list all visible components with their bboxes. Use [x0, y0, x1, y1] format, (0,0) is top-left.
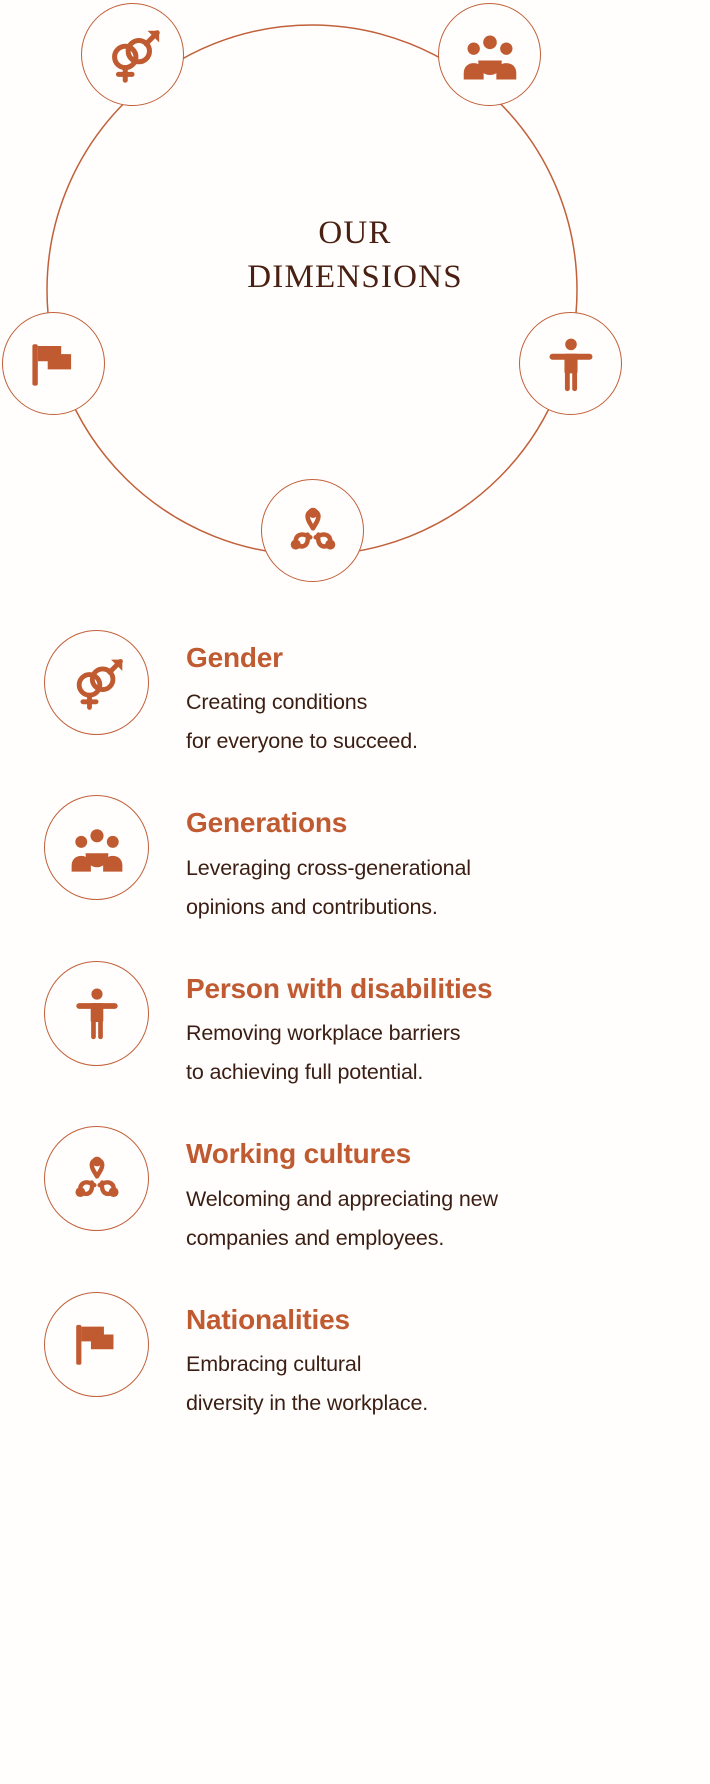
list-title-person-with-disabilities: Person with disabilities — [186, 973, 492, 1005]
diagram-node-working-cultures[interactable] — [261, 479, 364, 582]
list-text-generations: Generations Leveraging cross-generationa… — [149, 795, 471, 926]
accessibility-person-icon — [72, 986, 122, 1040]
list-item-generations[interactable]: Generations Leveraging cross-generationa… — [0, 795, 710, 926]
list-icon-badge-working-cultures — [44, 1126, 149, 1231]
center-title-line-1: OUR — [0, 212, 710, 256]
list-desc-line-2: diversity in the workplace. — [186, 1384, 428, 1423]
diagram-node-generations[interactable] — [438, 3, 541, 106]
list-title-working-cultures: Working cultures — [186, 1138, 498, 1170]
diagram-center-title: OUR DIMENSIONS — [0, 212, 710, 299]
list-icon-badge-nationalities — [44, 1292, 149, 1397]
list-desc-working-cultures: Welcoming and appreciating new companies… — [186, 1180, 498, 1258]
working-cultures-icon — [69, 1151, 125, 1207]
list-text-person-with-disabilities: Person with disabilities Removing workpl… — [149, 961, 492, 1092]
list-desc-gender: Creating conditions for everyone to succ… — [186, 683, 418, 761]
diagram-node-nationalities[interactable] — [2, 312, 105, 415]
list-desc-line-2: opinions and contributions. — [186, 888, 471, 927]
generations-people-icon — [461, 26, 519, 84]
our-dimensions-infographic: OUR DIMENSIONS Gender — [0, 0, 710, 1784]
list-desc-line-1: Leveraging cross-generational — [186, 849, 471, 888]
list-desc-line-1: Embracing cultural — [186, 1345, 428, 1384]
diagram-node-gender[interactable] — [81, 3, 184, 106]
list-desc-line-2: companies and employees. — [186, 1219, 498, 1258]
list-item-working-cultures[interactable]: Working cultures Welcoming and appreciat… — [0, 1126, 710, 1257]
dimensions-list: Gender Creating conditions for everyone … — [0, 630, 710, 1457]
gender-icon — [102, 24, 164, 86]
list-desc-generations: Leveraging cross-generational opinions a… — [186, 849, 471, 927]
list-item-gender[interactable]: Gender Creating conditions for everyone … — [0, 630, 710, 761]
list-text-gender: Gender Creating conditions for everyone … — [149, 630, 418, 761]
accessibility-person-icon — [545, 336, 597, 392]
working-cultures-icon — [284, 502, 342, 560]
list-desc-person-with-disabilities: Removing workplace barriers to achieving… — [186, 1014, 492, 1092]
generations-people-icon — [69, 820, 125, 876]
list-text-working-cultures: Working cultures Welcoming and appreciat… — [149, 1126, 498, 1257]
list-desc-line-1: Welcoming and appreciating new — [186, 1180, 498, 1219]
center-title-line-2: DIMENSIONS — [0, 256, 710, 300]
flag-icon — [27, 337, 81, 391]
list-title-gender: Gender — [186, 642, 418, 674]
list-desc-line-2: to achieving full potential. — [186, 1053, 492, 1092]
list-title-generations: Generations — [186, 807, 471, 839]
list-desc-line-2: for everyone to succeed. — [186, 722, 418, 761]
list-desc-line-1: Removing workplace barriers — [186, 1014, 492, 1053]
list-text-nationalities: Nationalities Embracing cultural diversi… — [149, 1292, 428, 1423]
list-icon-badge-person-with-disabilities — [44, 961, 149, 1066]
list-item-person-with-disabilities[interactable]: Person with disabilities Removing workpl… — [0, 961, 710, 1092]
flag-icon — [71, 1318, 123, 1370]
list-desc-line-1: Creating conditions — [186, 683, 418, 722]
gender-icon — [67, 653, 127, 713]
list-icon-badge-generations — [44, 795, 149, 900]
list-icon-badge-gender — [44, 630, 149, 735]
list-desc-nationalities: Embracing cultural diversity in the work… — [186, 1345, 428, 1423]
diagram-node-person-with-disabilities[interactable] — [519, 312, 622, 415]
list-title-nationalities: Nationalities — [186, 1304, 428, 1336]
dimensions-circle-diagram: OUR DIMENSIONS — [0, 0, 710, 620]
list-item-nationalities[interactable]: Nationalities Embracing cultural diversi… — [0, 1292, 710, 1423]
